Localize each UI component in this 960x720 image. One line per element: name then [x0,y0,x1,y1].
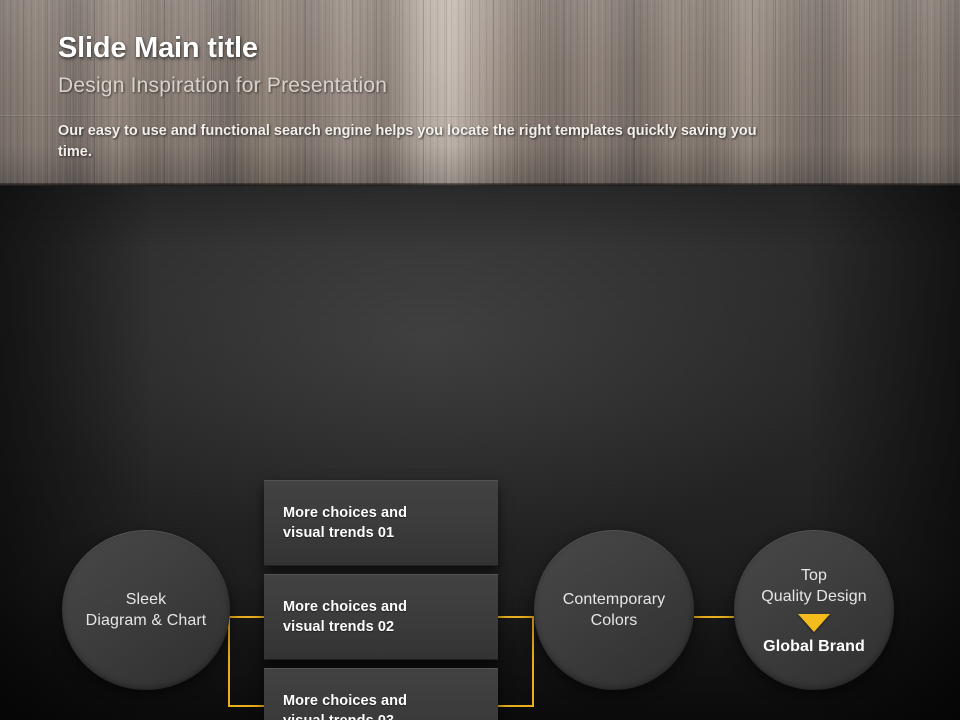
connector-left-top-horizontal [228,616,264,618]
diagram-circle-contemporary[interactable]: Contemporary Colors [534,530,694,690]
diagram-box-3[interactable]: More choices and visual trends 03 [264,668,498,720]
circle-2-line-2: Colors [591,610,638,631]
diagram-box-1[interactable]: More choices and visual trends 01 [264,480,498,566]
header-description-text: Our easy to use and functional search en… [58,121,778,163]
box-3-line-2: visual trends 03 [283,711,407,720]
box-3-text: More choices and visual trends 03 [264,691,407,720]
box-2-text: More choices and visual trends 02 [264,597,407,637]
circle-1-line-2: Diagram & Chart [86,610,207,631]
connector-left-bottom-horizontal [228,705,264,707]
connector-left-vertical [228,616,230,706]
slide-title: Slide Main title [58,32,258,65]
box-3-line-1: More choices and [283,691,407,711]
connector-between-circles [694,616,734,618]
diagram-circle-sleek[interactable]: Sleek Diagram & Chart [62,530,230,690]
slide-subtitle: Design Inspiration for Presentation [58,74,387,98]
circle-3-line-2: Quality Design [761,586,866,607]
diagram-box-2[interactable]: More choices and visual trends 02 [264,574,498,660]
connector-right-vertical [532,616,534,706]
connector-right-bottom-horizontal [498,705,534,707]
box-1-text: More choices and visual trends 01 [264,503,407,543]
box-1-line-1: More choices and [283,503,407,523]
circle-3-emphasis-label: Global Brand [763,638,865,656]
circle-1-line-1: Sleek [126,589,167,610]
header-divider-line [0,115,960,116]
triangle-down-icon [798,614,830,632]
diagram-circle-quality-design[interactable]: Top Quality Design Global Brand [734,530,894,690]
connector-right-top-horizontal [498,616,534,618]
circle-3-line-1: Top [801,565,827,586]
presentation-slide: Slide Main title Design Inspiration for … [0,0,960,720]
box-2-line-2: visual trends 02 [283,617,407,637]
box-2-line-1: More choices and [283,597,407,617]
box-1-line-2: visual trends 01 [283,523,407,543]
circle-2-line-1: Contemporary [563,589,666,610]
slide-body-area: Sleek Diagram & Chart Contemporary Color… [0,186,960,720]
slide-header-band: Slide Main title Design Inspiration for … [0,0,960,186]
